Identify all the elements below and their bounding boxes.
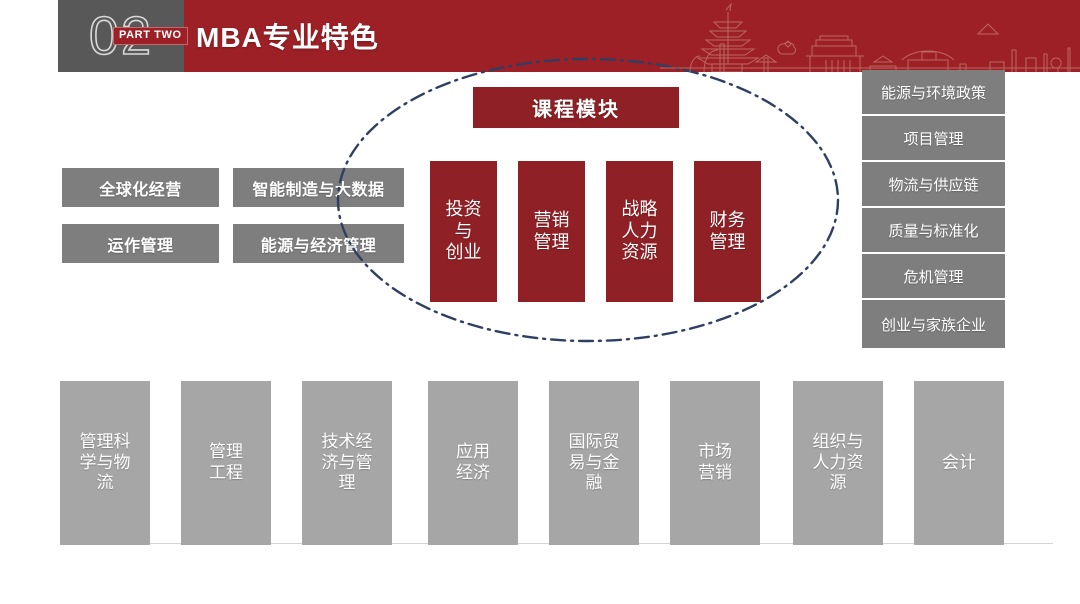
bottom-box-label: 技术经 济与管 理	[322, 432, 373, 494]
bottom-box-management-engineering[interactable]: 管理 工程	[181, 381, 271, 545]
slide-footer: 北京理工大学 BEIJING INSTITUTE OF TECHNOLOGY A…	[0, 556, 1080, 604]
core-module-label: 战略 人力 资源	[622, 199, 658, 265]
left-box-globalization[interactable]: 全球化经营	[62, 168, 219, 207]
core-module-label: 财务 管理	[710, 210, 746, 254]
bottom-box-applied-economics[interactable]: 应用 经济	[428, 381, 518, 545]
page-title: MBA专业特色	[196, 0, 379, 72]
right-box-energy-environment-policy[interactable]: 能源与环境政策	[862, 70, 1005, 114]
left-box-operations[interactable]: 运作管理	[62, 224, 219, 263]
bottom-box-technical-economics-management[interactable]: 技术经 济与管 理	[302, 381, 392, 545]
right-box-label: 质量与标准化	[888, 220, 978, 241]
right-box-label: 能源与环境政策	[881, 82, 986, 103]
bottom-box-marketing[interactable]: 市场 营销	[670, 381, 760, 545]
core-module-financial-management[interactable]: 财务 管理	[694, 161, 761, 302]
right-box-label: 危机管理	[903, 266, 963, 287]
right-box-logistics-supply-chain[interactable]: 物流与供应链	[862, 162, 1005, 206]
left-box-label: 全球化经营	[99, 176, 182, 200]
core-module-investment-entrepreneurship[interactable]: 投资 与 创业	[430, 161, 497, 302]
right-box-crisis-management[interactable]: 危机管理	[862, 254, 1005, 298]
right-box-label: 项目管理	[903, 128, 963, 149]
beijing-skyline-illustration	[660, 0, 1080, 72]
bottom-box-management-science-logistics[interactable]: 管理科 学与物 流	[60, 381, 150, 545]
bottom-box-label: 市场 营销	[698, 442, 732, 483]
bottom-box-accounting[interactable]: 会计	[914, 381, 1004, 545]
bottom-box-label: 应用 经济	[456, 442, 490, 483]
bottom-box-label: 会计	[942, 453, 976, 474]
right-box-quality-standardization[interactable]: 质量与标准化	[862, 208, 1005, 252]
left-box-label: 智能制造与大数据	[252, 176, 384, 200]
header-left-margin	[0, 0, 58, 72]
bottom-box-international-trade-finance[interactable]: 国际贸 易与金 融	[549, 381, 639, 545]
core-module-label: 营销 管理	[534, 210, 570, 254]
core-module-strategic-hr[interactable]: 战略 人力 资源	[606, 161, 673, 302]
core-module-label: 投资 与 创业	[446, 199, 482, 265]
part-badge: PART TWO	[113, 27, 188, 45]
bottom-box-label: 国际贸 易与金 融	[569, 432, 620, 494]
right-box-entrepreneurship-family-business[interactable]: 创业与家族企业	[862, 300, 1005, 348]
left-box-label: 运作管理	[107, 232, 173, 256]
core-module-marketing-management[interactable]: 营销 管理	[518, 161, 585, 302]
right-box-label: 物流与供应链	[888, 174, 978, 195]
slide-root: 02 PART TWO MBA专业特色 全球化经营 运作管理 智能制造与大数据 …	[0, 0, 1080, 604]
left-box-label: 能源与经济管理	[261, 232, 377, 256]
right-box-label: 创业与家族企业	[881, 314, 986, 335]
bottom-box-label: 管理科 学与物 流	[80, 432, 131, 494]
slide-header: 02 PART TWO MBA专业特色	[0, 0, 1080, 72]
right-box-project-management[interactable]: 项目管理	[862, 116, 1005, 160]
bottom-box-organization-hr[interactable]: 组织与 人力资 源	[793, 381, 883, 545]
left-box-energy-economy[interactable]: 能源与经济管理	[233, 224, 404, 263]
left-box-smart-manufacturing[interactable]: 智能制造与大数据	[233, 168, 404, 207]
bottom-box-label: 组织与 人力资 源	[813, 432, 864, 494]
bottom-box-label: 管理 工程	[209, 442, 243, 483]
module-title-box: 课程模块	[473, 87, 679, 128]
module-title-label: 课程模块	[532, 93, 620, 122]
